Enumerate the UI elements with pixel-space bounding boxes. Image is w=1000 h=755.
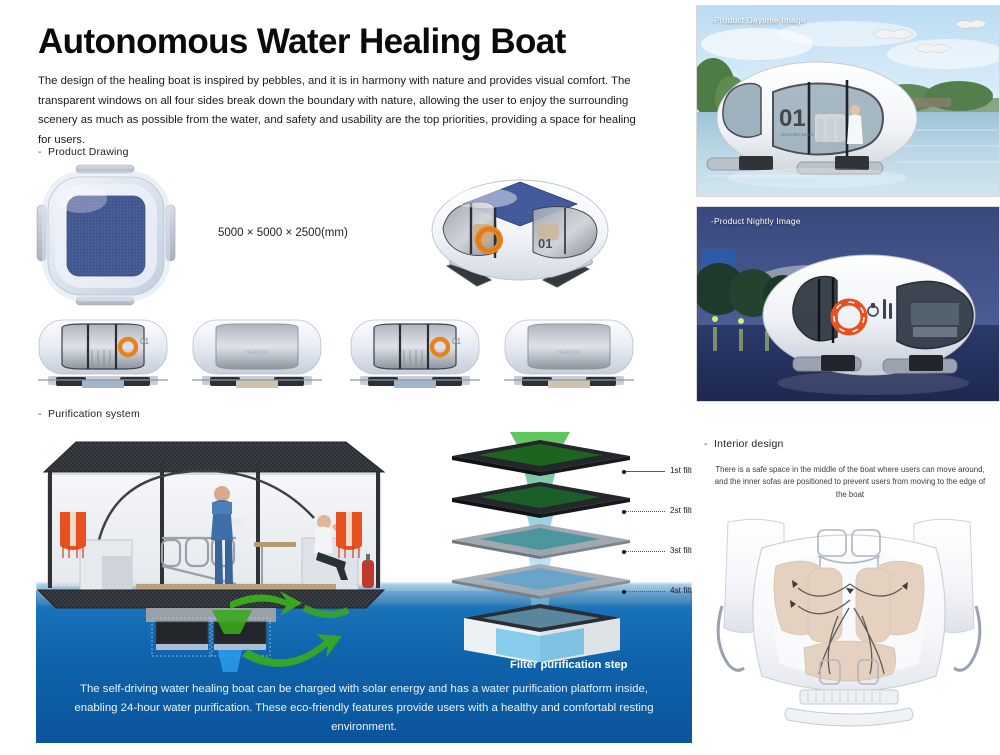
interior-layout-render (704, 508, 994, 748)
leader-dot (622, 590, 626, 594)
section-label: Purification system (48, 408, 140, 420)
purification-caption: The self-driving water healing boat can … (36, 680, 692, 737)
filter-plate-1 (452, 440, 630, 476)
section-label: Interior design (714, 438, 784, 450)
pod-top-view (36, 163, 176, 311)
nightly-photo-label: -Product Nightly Image (711, 216, 801, 226)
section-label: Product Drawing (48, 146, 129, 158)
filter-leader-3 (625, 551, 665, 552)
interior-description: There is a safe space in the middle of t… (714, 464, 986, 501)
intro-paragraph: The design of the healing boat is inspir… (38, 72, 648, 150)
page-title: Autonomous Water Healing Boat (38, 22, 566, 62)
filter-label-2: 2st filter (670, 506, 692, 515)
filter-label-3: 3st filter (670, 546, 692, 555)
section-heading-interior-design: -Interior design (704, 438, 784, 450)
section-heading-purification-system: -Purification system (38, 408, 140, 420)
filter-leader-2 (625, 511, 665, 512)
filter-label-1: 1st filter (670, 466, 692, 475)
filter-stack-illustration (452, 432, 642, 662)
leader-dot (622, 510, 626, 514)
filter-plate-2 (452, 482, 630, 518)
nightly-scene (697, 207, 999, 401)
pod-number-marking: 01 (779, 105, 806, 132)
svg-text:HEALING BOAT: HEALING BOAT (781, 132, 814, 137)
purification-system-panel: 1st filter 2st filter 3st filter 4st fil… (36, 432, 692, 743)
product-nightly-photo: -Product Nightly Image (696, 206, 1000, 402)
leader-dot (622, 550, 626, 554)
svg-text:HEALING: HEALING (558, 350, 580, 356)
section-dash: - (38, 408, 48, 420)
daytime-scene: 01 HEALING BOAT (697, 6, 999, 196)
right-column: 01 HEALING BOAT -Product Daytime Image (696, 0, 1000, 755)
section-heading-product-drawing: -Product Drawing (38, 146, 129, 158)
leader-dot (622, 470, 626, 474)
purification-base-unit (464, 604, 620, 662)
dimension-label: 5000 × 5000 × 2500(mm) (218, 227, 348, 239)
svg-text:HEALING: HEALING (246, 350, 268, 356)
section-dash: - (704, 438, 714, 450)
svg-text:01: 01 (140, 337, 149, 346)
filter-leader-4 (625, 591, 665, 592)
filter-plate-3 (452, 524, 630, 559)
left-column: Autonomous Water Healing Boat The design… (0, 0, 692, 755)
section-dash: - (38, 146, 48, 158)
product-daytime-photo: 01 HEALING BOAT -Product Daytime Image (696, 5, 1000, 197)
interior-topdown-cutaway (704, 508, 994, 748)
svg-text:01: 01 (538, 236, 552, 251)
pod-perspective-view: 01 (425, 168, 615, 308)
presentation-board: Autonomous Water Healing Boat The design… (0, 0, 1000, 755)
svg-text:01: 01 (452, 337, 461, 346)
filter-plate-4 (452, 564, 630, 599)
pod-elevation-rear: 01 (348, 314, 482, 398)
daytime-photo-label: -Product Daytime Image (711, 15, 806, 25)
pod-elevation-side: HEALING (190, 314, 324, 398)
pod-elevation-opposite-side: HEALING (502, 314, 636, 398)
filter-label-4: 4st filter (670, 586, 692, 595)
filter-leader-1 (625, 471, 665, 472)
pod-elevation-front: 01 (36, 314, 170, 398)
filter-step-label: Filter purification step (510, 659, 627, 671)
